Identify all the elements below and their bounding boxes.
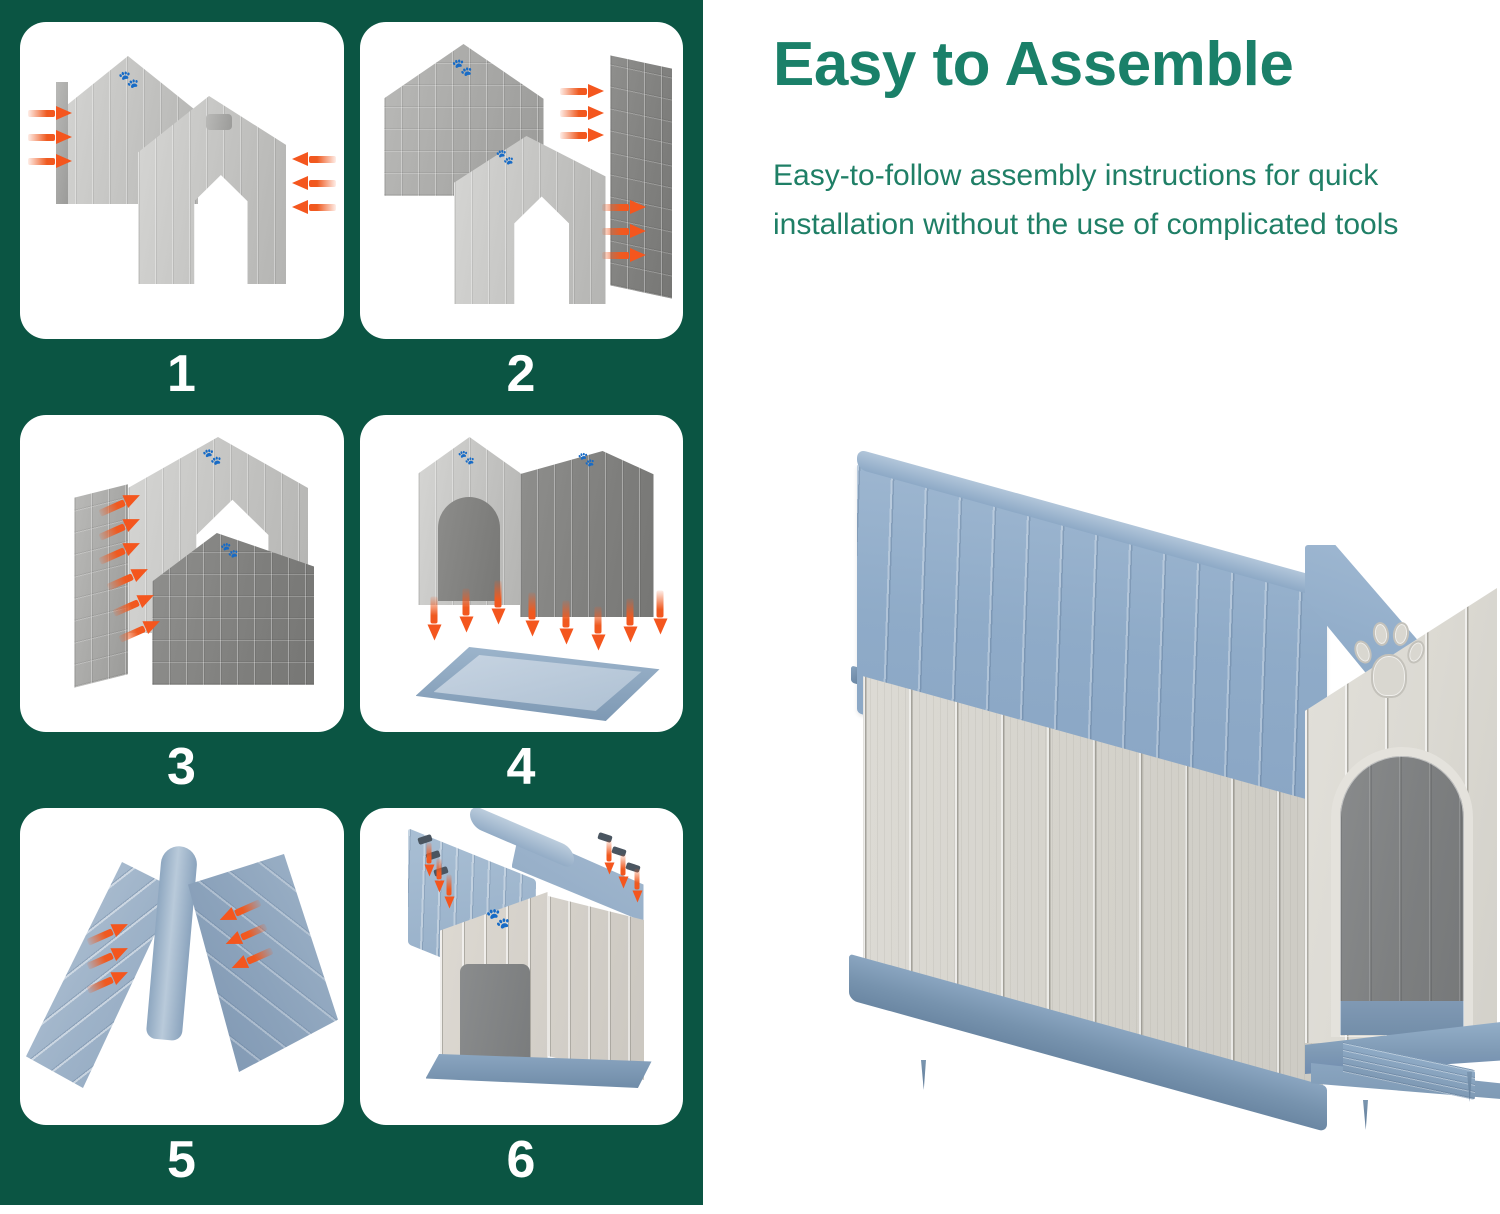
paw-icon: 🐾: [578, 451, 595, 468]
paw-icon: 🐾: [458, 449, 475, 466]
door-arch-trim: [1331, 747, 1473, 1037]
paw-toe: [1404, 638, 1428, 666]
step-card-3: 🐾 🐾: [20, 415, 344, 732]
step-card-6: 🐾: [360, 808, 684, 1125]
assembly-arrow: [560, 106, 604, 121]
assembly-arrow: [458, 589, 473, 633]
paw-icon: 🐾: [496, 148, 515, 166]
step-cell-3: 🐾 🐾 3: [20, 415, 344, 802]
step-card-1: 🐾: [20, 22, 344, 339]
paw-icon: 🐾: [486, 906, 511, 931]
side-wall: [548, 896, 644, 1080]
page-title: Easy to Assemble: [773, 32, 1473, 98]
assembly-arrow: [28, 106, 72, 121]
assembly-arrow: [28, 130, 72, 145]
assembly-arrow: [426, 597, 441, 641]
paw-toe: [1391, 621, 1410, 647]
step-3-illustration: 🐾 🐾: [20, 415, 344, 732]
assembly-arrow: [292, 176, 336, 191]
assembly-arrow: [423, 843, 434, 877]
assembly-arrow: [443, 875, 454, 909]
side-wall: [520, 451, 654, 617]
step-2-illustration: 🐾 🐾: [360, 22, 684, 339]
right-column: Easy to Assemble Easy-to-follow assembly…: [745, 0, 1500, 1214]
product-hero-image: [745, 500, 1500, 1210]
step-6-illustration: 🐾: [360, 808, 684, 1125]
assembly-arrow: [602, 224, 646, 239]
step-card-4: 🐾 🐾: [360, 415, 684, 732]
assembly-arrow: [524, 593, 539, 637]
paw-toe: [1371, 621, 1390, 647]
assembly-arrow: [590, 607, 605, 651]
assembly-arrow: [28, 154, 72, 169]
assembly-arrow: [617, 855, 628, 889]
step-cell-6: 🐾: [360, 808, 684, 1195]
step-cell-1: 🐾 1: [20, 22, 344, 409]
step-number-4: 4: [360, 732, 684, 802]
paw-icon: 🐾: [118, 70, 139, 90]
paw-print-emblem: [1353, 620, 1425, 700]
base-leg: [921, 1060, 926, 1090]
step-number-1: 1: [20, 339, 344, 409]
step-cell-2: 🐾 🐾 2: [360, 22, 684, 409]
step-number-2: 2: [360, 339, 684, 409]
assembly-steps-board: 🐾 1: [0, 0, 703, 1205]
page-subtitle: Easy-to-follow assembly instructions for…: [773, 152, 1473, 249]
assembly-arrow: [560, 128, 604, 143]
assembly-arrow: [560, 84, 604, 99]
step-card-2: 🐾 🐾: [360, 22, 684, 339]
ridge-cap: [146, 845, 199, 1041]
step-cell-4: 🐾 🐾 4: [360, 415, 684, 802]
assembly-arrow: [652, 591, 667, 635]
assembly-arrow: [433, 859, 444, 893]
assembly-arrow: [603, 841, 614, 875]
base-leg: [1363, 1100, 1368, 1130]
door-opening: [460, 964, 530, 1064]
step-5-illustration: [20, 808, 344, 1125]
infographic-page: 🐾 1: [0, 0, 1500, 1214]
assembly-arrow: [292, 200, 336, 215]
step-card-5: [20, 808, 344, 1125]
assembly-arrow: [622, 599, 637, 643]
step-number-3: 3: [20, 732, 344, 802]
assembly-arrow: [558, 601, 573, 645]
assembly-arrow: [292, 152, 336, 167]
paw-toe: [1351, 638, 1375, 666]
assembly-arrow: [490, 581, 505, 625]
step-cell-5: 5: [20, 808, 344, 1195]
paw-pad: [1371, 654, 1407, 698]
assembly-arrow: [631, 869, 642, 903]
step-number-5: 5: [20, 1125, 344, 1195]
assembly-arrow: [602, 200, 646, 215]
step-4-illustration: 🐾 🐾: [360, 415, 684, 732]
right-roof-panel: [188, 854, 338, 1072]
assembly-arrow: [602, 248, 646, 263]
step-number-6: 6: [360, 1125, 684, 1195]
paw-icon: 🐾: [202, 447, 222, 467]
front-panel-latch: [206, 114, 232, 130]
step-1-illustration: 🐾: [20, 22, 344, 339]
paw-icon: 🐾: [220, 541, 239, 559]
paw-icon: 🐾: [452, 58, 473, 78]
